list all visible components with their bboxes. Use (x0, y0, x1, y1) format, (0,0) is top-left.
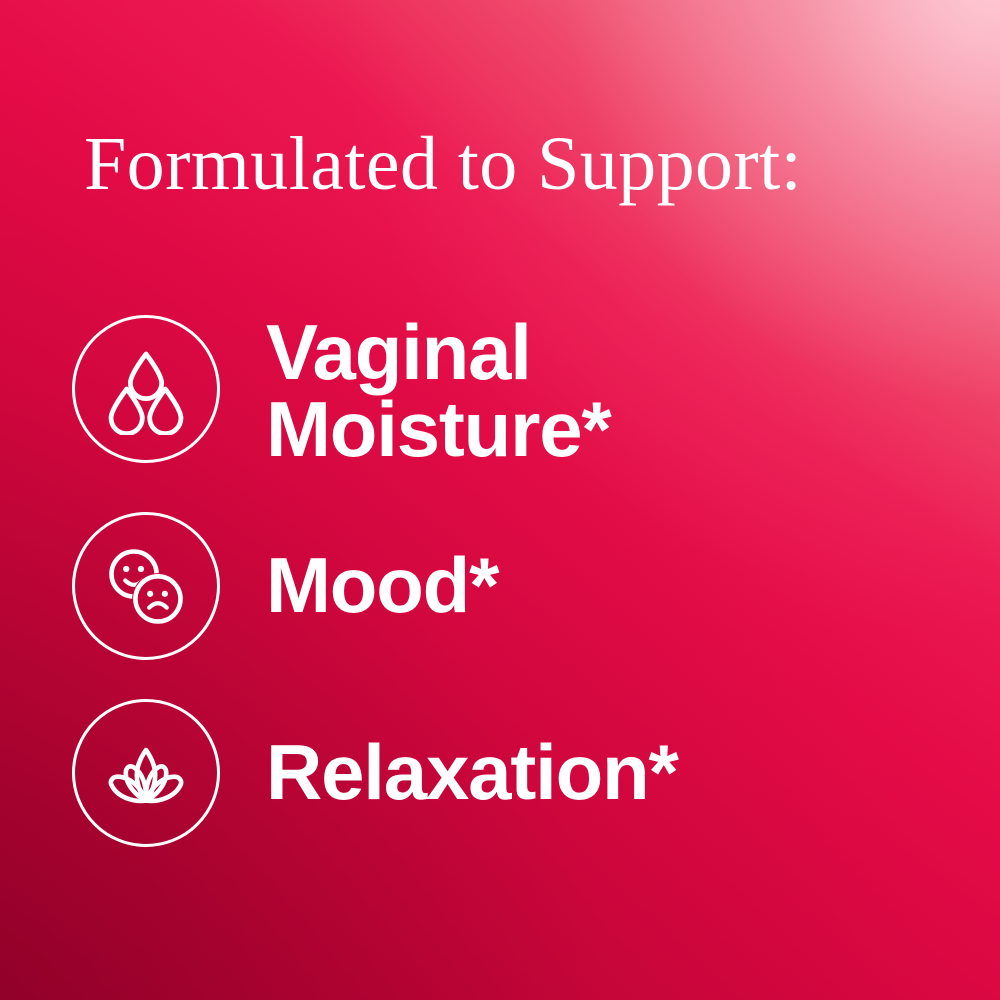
benefit-list: Vaginal Moisture* (0, 0, 1000, 1000)
card-content: Formulated to Support: (0, 0, 1000, 1000)
smiley-sad-faces-icon (72, 512, 220, 660)
promo-card: Formulated to Support: (0, 0, 1000, 1000)
list-item: Vaginal Moisture* (72, 310, 611, 468)
list-item: Relaxation* (72, 699, 678, 847)
list-item: Mood* (72, 512, 498, 660)
water-droplets-icon (72, 315, 220, 463)
benefit-label: Relaxation* (266, 734, 678, 811)
benefit-label: Vaginal Moisture* (266, 314, 611, 468)
lotus-flower-icon (72, 699, 220, 847)
benefit-label: Mood* (266, 547, 498, 624)
